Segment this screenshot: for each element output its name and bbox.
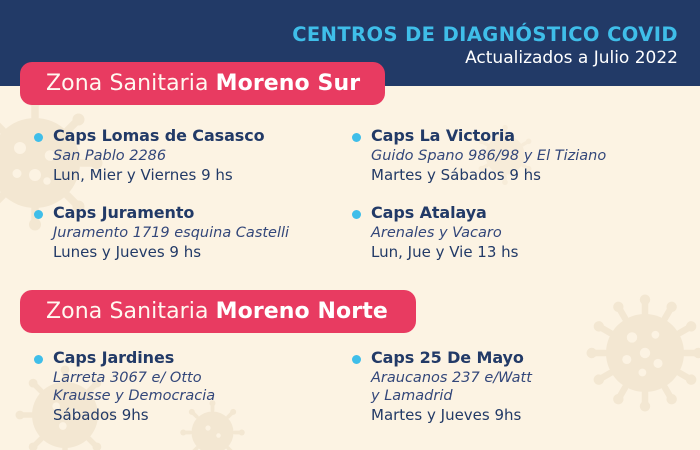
center-body: Caps 25 De Mayo Araucanos 237 e/Watt y L… — [371, 348, 700, 425]
center-name: Caps 25 De Mayo — [371, 348, 700, 367]
center-address: Larreta 3067 e/ Otto Krausse y Democraci… — [53, 369, 348, 405]
center-hours: Martes y Jueves 9hs — [371, 406, 700, 425]
address-line: Larreta 3067 e/ Otto — [53, 369, 348, 387]
center-address: San Pablo 2286 — [53, 147, 348, 165]
center-body: Caps Lomas de Casasco San Pablo 2286 Lun… — [53, 126, 348, 185]
list-item: Caps Lomas de Casasco San Pablo 2286 Lun… — [34, 126, 348, 185]
bullet-icon — [34, 210, 43, 219]
center-body: Caps Atalaya Arenales y Vacaro Lun, Jue … — [371, 203, 700, 262]
list-item: Caps Jardines Larreta 3067 e/ Otto Kraus… — [34, 348, 348, 425]
center-body: Caps Juramento Juramento 1719 esquina Ca… — [53, 203, 348, 262]
bullet-icon — [352, 210, 361, 219]
zone-section-moreno-sur: Caps Lomas de Casasco San Pablo 2286 Lun… — [0, 126, 700, 280]
zone-column-left: Caps Jardines Larreta 3067 e/ Otto Kraus… — [0, 348, 348, 443]
zone-label-name: Moreno Sur — [216, 71, 361, 96]
address-line: San Pablo 2286 — [53, 147, 348, 165]
zone-column-right: Caps La Victoria Guido Spano 986/98 y El… — [348, 126, 700, 280]
center-hours: Lunes y Jueves 9 hs — [53, 243, 348, 262]
center-name: Caps Lomas de Casasco — [53, 126, 348, 145]
bullet-icon — [352, 355, 361, 364]
center-name: Caps Atalaya — [371, 203, 700, 222]
center-hours: Martes y Sábados 9 hs — [371, 166, 700, 185]
zone-banner-moreno-sur: Zona Sanitaria Moreno Sur — [20, 62, 385, 105]
zone-columns: Caps Lomas de Casasco San Pablo 2286 Lun… — [0, 126, 700, 280]
covid-testing-centers-poster: CENTROS DE DIAGNÓSTICO COVID Actualizado… — [0, 0, 700, 450]
zone-label-prefix: Zona Sanitaria — [46, 299, 209, 324]
bullet-icon — [34, 133, 43, 142]
zone-label-prefix: Zona Sanitaria — [46, 71, 209, 96]
address-line: Araucanos 237 e/Watt — [371, 369, 700, 387]
center-body: Caps La Victoria Guido Spano 986/98 y El… — [371, 126, 700, 185]
bullet-icon — [352, 133, 361, 142]
center-hours: Sábados 9hs — [53, 406, 348, 425]
zone-section-moreno-norte: Caps Jardines Larreta 3067 e/ Otto Kraus… — [0, 348, 700, 443]
center-name: Caps Jardines — [53, 348, 348, 367]
zone-column-right: Caps 25 De Mayo Araucanos 237 e/Watt y L… — [348, 348, 700, 443]
center-hours: Lun, Mier y Viernes 9 hs — [53, 166, 348, 185]
address-line: Juramento 1719 esquina Castelli — [53, 224, 348, 242]
center-address: Guido Spano 986/98 y El Tiziano — [371, 147, 700, 165]
center-name: Caps Juramento — [53, 203, 348, 222]
address-line: Arenales y Vacaro — [371, 224, 700, 242]
zone-column-left: Caps Lomas de Casasco San Pablo 2286 Lun… — [0, 126, 348, 280]
zone-banner-moreno-norte: Zona Sanitaria Moreno Norte — [20, 290, 416, 333]
center-hours: Lun, Jue y Vie 13 hs — [371, 243, 700, 262]
address-line: Guido Spano 986/98 y El Tiziano — [371, 147, 700, 165]
zone-label-name: Moreno Norte — [216, 299, 388, 324]
center-body: Caps Jardines Larreta 3067 e/ Otto Kraus… — [53, 348, 348, 425]
list-item: Caps La Victoria Guido Spano 986/98 y El… — [352, 126, 700, 185]
center-name: Caps La Victoria — [371, 126, 700, 145]
page-title: CENTROS DE DIAGNÓSTICO COVID — [292, 24, 678, 45]
address-line: Krausse y Democracia — [53, 387, 348, 405]
center-address: Juramento 1719 esquina Castelli — [53, 224, 348, 242]
list-item: Caps 25 De Mayo Araucanos 237 e/Watt y L… — [352, 348, 700, 425]
center-address: Arenales y Vacaro — [371, 224, 700, 242]
list-item: Caps Atalaya Arenales y Vacaro Lun, Jue … — [352, 203, 700, 262]
address-line: y Lamadrid — [371, 387, 700, 405]
list-item: Caps Juramento Juramento 1719 esquina Ca… — [34, 203, 348, 262]
center-address: Araucanos 237 e/Watt y Lamadrid — [371, 369, 700, 405]
zone-columns: Caps Jardines Larreta 3067 e/ Otto Kraus… — [0, 348, 700, 443]
bullet-icon — [34, 355, 43, 364]
